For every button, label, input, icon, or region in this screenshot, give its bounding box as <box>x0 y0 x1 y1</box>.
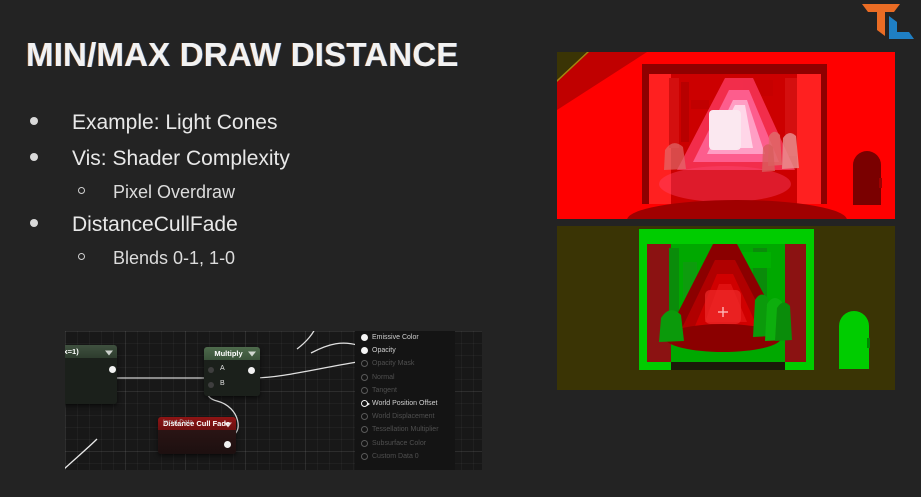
list-item: Vis: Shader Complexity <box>30 144 510 174</box>
bullet-circle-icon <box>78 253 85 260</box>
page-title: MIN/MAX DRAW DISTANCE <box>26 36 459 74</box>
pin-connected-icon[interactable] <box>361 334 368 341</box>
material-output-label: Opacity Mask <box>372 360 414 367</box>
material-output-row[interactable]: World Displacement <box>355 410 455 423</box>
bullet-text: Example: Light Cones <box>72 108 277 138</box>
bullet-dot-icon <box>30 153 38 161</box>
material-output-row[interactable]: Custom Data 0 <box>355 450 455 463</box>
viewport-red-image <box>557 52 895 219</box>
material-output-row[interactable]: Normal <box>355 371 455 384</box>
material-output-row[interactable]: Opacity <box>355 344 455 357</box>
material-output-row[interactable]: Emissive Color <box>355 331 455 344</box>
viewport-shader-complexity-red <box>557 52 895 219</box>
viewport-shader-complexity-green <box>557 226 895 390</box>
material-output-label: Emissive Color <box>372 334 419 341</box>
material-output-row[interactable]: Opacity Mask <box>355 357 455 370</box>
clipped-node[interactable]: ) (Max=1) <box>65 345 117 404</box>
bullet-text: Pixel Overdraw <box>113 180 235 206</box>
pin-empty-icon[interactable] <box>361 426 368 433</box>
pin-empty-icon[interactable] <box>361 413 368 420</box>
distance-cull-fade-body: Input Data <box>158 430 236 454</box>
slide-root: MIN/MAX DRAW DISTANCE Example: Light Con… <box>0 0 921 497</box>
distance-cull-fade-subtitle: Input Data <box>158 419 198 428</box>
material-output-panel[interactable]: Emissive Color Opacity Opacity Mask Norm… <box>355 331 455 470</box>
output-pin[interactable] <box>224 441 231 448</box>
output-pin[interactable] <box>109 366 116 373</box>
bullet-text: DistanceCullFade <box>72 210 238 240</box>
bullet-list: Example: Light Cones Vis: Shader Complex… <box>30 108 510 277</box>
chevron-down-icon[interactable] <box>248 352 256 357</box>
list-item: Blends 0-1, 1-0 <box>30 246 510 272</box>
bullet-circle-icon <box>78 187 85 194</box>
pin-empty-icon[interactable] <box>361 360 368 367</box>
input-pin-a[interactable] <box>208 367 214 373</box>
multiply-node[interactable]: Multiply A B <box>204 347 260 396</box>
multiply-node-body: A B <box>204 360 260 396</box>
material-node-graph[interactable]: ) (Max=1) Multiply A B Distance Cull Fad… <box>65 331 482 470</box>
pin-empty-icon[interactable] <box>361 374 368 381</box>
material-output-label: Opacity <box>372 347 396 354</box>
pin-active-icon[interactable] <box>361 400 368 407</box>
bullet-text: Blends 0-1, 1-0 <box>113 246 235 272</box>
tl-logo-icon <box>858 2 916 42</box>
material-output-label: Subsurface Color <box>372 440 426 447</box>
material-output-label: Tangent <box>372 387 397 394</box>
material-output-label: Custom Data 0 <box>372 453 419 460</box>
material-output-row[interactable]: Tessellation Multiplier <box>355 423 455 436</box>
material-output-row[interactable]: World Position Offset <box>355 397 455 410</box>
material-output-row[interactable]: Subsurface Color <box>355 437 455 450</box>
distance-cull-fade-node[interactable]: Distance Cull Fade Input Data <box>158 417 236 454</box>
pin-empty-icon[interactable] <box>361 453 368 460</box>
list-item: Example: Light Cones <box>30 108 510 138</box>
input-pin-b[interactable] <box>208 382 214 388</box>
material-output-label: World Position Offset <box>372 400 438 407</box>
bullet-dot-icon <box>30 117 38 125</box>
list-item: Pixel Overdraw <box>30 180 510 206</box>
chevron-down-icon[interactable] <box>105 351 113 356</box>
tl-logo <box>858 2 916 42</box>
bullet-text: Vis: Shader Complexity <box>72 144 290 174</box>
pin-empty-icon[interactable] <box>361 440 368 447</box>
chevron-down-icon[interactable] <box>224 423 232 428</box>
input-label-a: A <box>220 365 225 372</box>
material-output-label: Normal <box>372 374 395 381</box>
input-label-b: B <box>220 380 225 387</box>
bullet-dot-icon <box>30 219 38 227</box>
output-pin[interactable] <box>248 367 255 374</box>
material-output-label: Tessellation Multiplier <box>372 426 439 433</box>
material-output-row[interactable]: Tangent <box>355 384 455 397</box>
viewport-green-image <box>557 226 895 390</box>
clipped-node-body <box>65 358 117 404</box>
list-item: DistanceCullFade <box>30 210 510 240</box>
pin-connected-icon[interactable] <box>361 347 368 354</box>
material-output-label: World Displacement <box>372 413 435 420</box>
pin-empty-icon[interactable] <box>361 387 368 394</box>
